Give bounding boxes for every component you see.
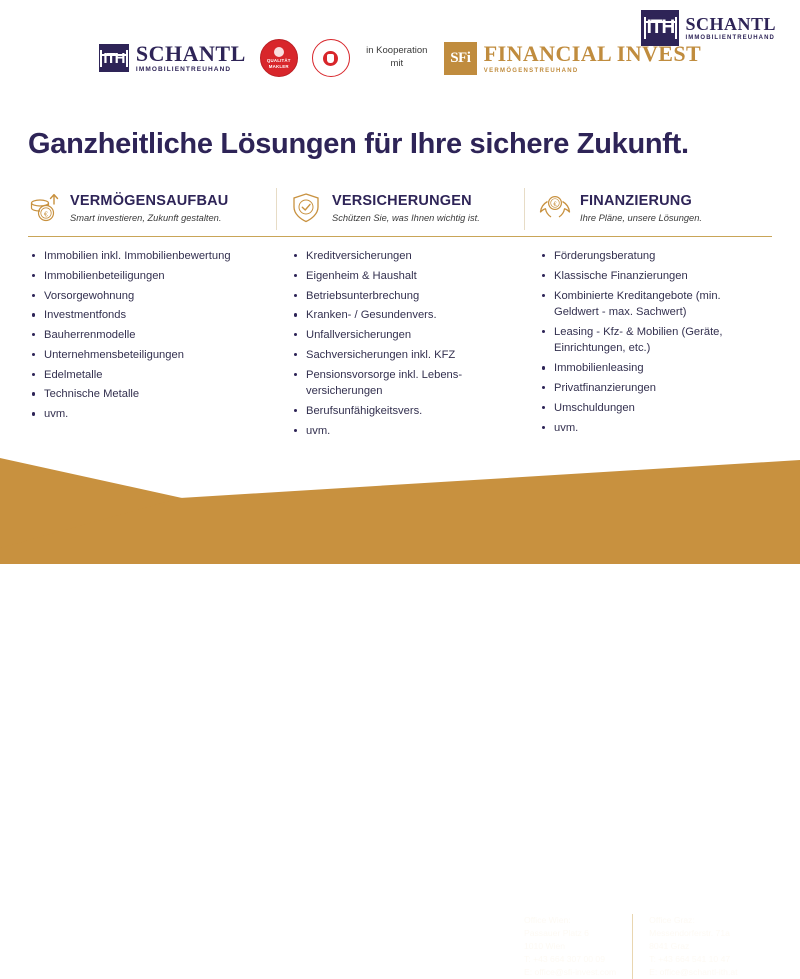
column-header: VERSICHERUNGEN Schützen Sie, was Ihnen w… <box>290 186 510 230</box>
list-finanzierung: Förderungsberatung Klassische Finanzieru… <box>524 248 772 442</box>
office-name: Office Graz: <box>649 914 737 927</box>
list-item: Unfallversicherungen <box>306 327 510 344</box>
list-item: Privatfinanzierungen <box>554 380 758 397</box>
list-item: Betriebsunterbrechung <box>306 288 510 305</box>
sfi-financial-invest-logo: SFi FINANCIAL INVEST VERMÖGENSTREUHAND <box>444 42 701 75</box>
column-subtitle: Schützen Sie, was Ihnen wichtig ist. <box>332 213 480 224</box>
crest-emblem <box>323 51 338 66</box>
office-city: 8041 Graz <box>649 940 737 953</box>
cooperation-label: in Kooperation mit <box>364 45 430 71</box>
seal-line-3: MAKLER <box>269 64 289 70</box>
seal-emblem <box>274 47 284 57</box>
page-header: ITH SCHANTL IMMOBILIENTREUHAND ITH SCHAN… <box>0 0 800 100</box>
list-item: Unternehmensbeteiligungen <box>44 347 262 364</box>
list-item: Sachversicherungen inkl. KFZ <box>306 347 510 364</box>
sfi-monogram-icon: SFi <box>444 42 477 75</box>
list-item: uvm. <box>44 406 262 423</box>
office-street: Passauer Platz 6 <box>524 927 616 940</box>
gold-divider-rule <box>28 236 772 237</box>
list-item: Leasing - Kfz- & Mobilien (Geräte, Einri… <box>554 324 758 357</box>
ith-letters: ITH <box>100 50 127 67</box>
list-item: Kombinierte Kreditangebote (min. Geldwer… <box>554 288 758 321</box>
list-item: Bauherrenmodelle <box>44 327 262 344</box>
column-title: VERMÖGENSAUFBAU <box>70 193 228 209</box>
list-item: Kreditversicherungen <box>306 248 510 265</box>
column-header: € VERMÖGENSAUFBAU Smart investieren, Zuk… <box>28 186 262 230</box>
column-versicherungen: VERSICHERUNGEN Schützen Sie, was Ihnen w… <box>276 186 524 230</box>
financial-invest-name: FINANCIAL INVEST <box>484 43 701 65</box>
column-header: € FINANZIERUNG Ihre Pläne, unsere Lösung… <box>538 186 758 230</box>
ith-monogram-icon: ITH <box>99 44 129 72</box>
office-phone[interactable]: T: +43 664 541 10 47 <box>649 953 737 966</box>
office-graz: Office Graz: Messendorferstr. 71a 8041 G… <box>632 914 737 979</box>
column-title: VERSICHERUNGEN <box>332 193 472 209</box>
column-title-block: FINANZIERUNG Ihre Pläne, unsere Lösungen… <box>580 192 702 224</box>
bullet-list: Immobilien inkl. Immobilienbewertung Imm… <box>28 248 262 423</box>
office-city: 1010 Wien <box>524 940 616 953</box>
column-title: FINANZIERUNG <box>580 193 692 209</box>
column-title-block: VERMÖGENSAUFBAU Smart investieren, Zukun… <box>70 192 228 224</box>
list-item: uvm. <box>554 420 758 437</box>
schantl-name: SCHANTL <box>685 15 776 33</box>
list-item: Klassische Finanzierungen <box>554 268 758 285</box>
list-item: Immobilien inkl. Immobilienbewertung <box>44 248 262 265</box>
office-phone[interactable]: T: +43 664 307 00 09 <box>524 953 616 966</box>
list-item: Kranken- / Gesundenvers. <box>306 307 510 324</box>
schantl-tagline: IMMOBILIENTREUHAND <box>136 67 246 74</box>
financial-invest-tagline: VERMÖGENSTREUHAND <box>484 68 701 74</box>
office-wien: Office Wien: Passauer Platz 6 1010 Wien … <box>524 914 616 979</box>
office-contacts: Office Wien: Passauer Platz 6 1010 Wien … <box>524 914 738 979</box>
svg-text:€: € <box>44 212 48 219</box>
office-name: Office Wien: <box>524 914 616 927</box>
list-vermoegensaufbau: Immobilien inkl. Immobilienbewertung Imm… <box>28 248 276 442</box>
list-item: Förderungsberatung <box>554 248 758 265</box>
bullet-list: Förderungsberatung Klassische Finanzieru… <box>538 248 758 436</box>
service-column-headers: € VERMÖGENSAUFBAU Smart investieren, Zuk… <box>28 186 772 230</box>
qualitaets-makler-seal-icon: QUALITÄT MAKLER <box>260 39 298 77</box>
service-lists: Immobilien inkl. Immobilienbewertung Imm… <box>28 248 772 442</box>
partner-logo-row: ITH SCHANTL IMMOBILIENTREUHAND QUALITÄT … <box>0 32 800 84</box>
column-vermoegensaufbau: € VERMÖGENSAUFBAU Smart investieren, Zuk… <box>28 186 276 230</box>
office-email[interactable]: E: office@sfi-invest.com <box>524 966 616 979</box>
financial-invest-wordmark: FINANCIAL INVEST VERMÖGENSTREUHAND <box>484 43 701 74</box>
list-item: Investmentfonds <box>44 307 262 324</box>
list-item: Technische Metalle <box>44 386 262 403</box>
list-item: Vorsorgewohnung <box>44 288 262 305</box>
shield-check-icon <box>290 192 324 224</box>
column-title-block: VERSICHERUNGEN Schützen Sie, was Ihnen w… <box>332 192 480 224</box>
page-footer: Office Wien: Passauer Platz 6 1010 Wien … <box>0 440 800 564</box>
hands-holding-coin-icon: € <box>538 192 572 224</box>
column-subtitle: Smart investieren, Zukunft gestalten. <box>70 213 228 224</box>
list-item: Umschuldungen <box>554 400 758 417</box>
list-item: Immobilienbeteiligungen <box>44 268 262 285</box>
footer-ribbon-shape <box>0 440 800 564</box>
page-title: Ganzheitliche Lösungen für Ihre sichere … <box>28 128 689 161</box>
bullet-list: Kreditversicherungen Eigenheim & Haushal… <box>290 248 510 439</box>
list-versicherungen: Kreditversicherungen Eigenheim & Haushal… <box>276 248 524 442</box>
schantl-wordmark: SCHANTL IMMOBILIENTREUHAND <box>136 43 246 74</box>
office-email[interactable]: E: office@schantl-ith.at <box>649 966 737 979</box>
list-item: Berufsunfähigkeitsvers. <box>306 403 510 420</box>
schantl-name: SCHANTL <box>136 43 246 65</box>
schantl-main-logo: ITH SCHANTL IMMOBILIENTREUHAND <box>99 43 246 74</box>
list-item: Eigenheim & Haushalt <box>306 268 510 285</box>
office-street: Messendorferstr. 71a <box>649 927 737 940</box>
austria-crest-seal-icon <box>312 39 350 77</box>
column-finanzierung: € FINANZIERUNG Ihre Pläne, unsere Lösung… <box>524 186 772 230</box>
list-item: uvm. <box>306 423 510 440</box>
list-item: Edelmetalle <box>44 367 262 384</box>
column-subtitle: Ihre Pläne, unsere Lösungen. <box>580 213 702 224</box>
coins-euro-growth-icon: € <box>28 192 62 224</box>
list-item: Pensionsvorsorge inkl. Lebens-versicheru… <box>306 367 510 400</box>
list-item: Immobilienleasing <box>554 360 758 377</box>
